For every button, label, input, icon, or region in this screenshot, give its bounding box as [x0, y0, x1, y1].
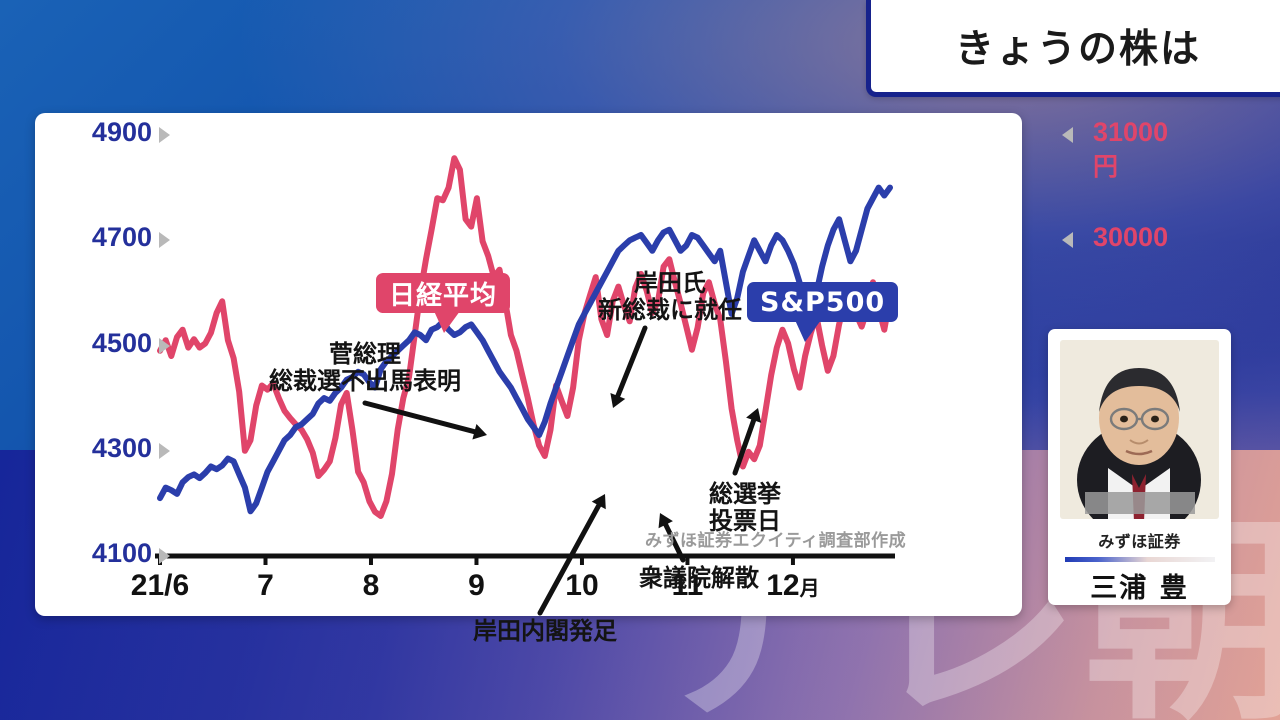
chart-card: 4900470045004300410031000円30000290002800…: [35, 113, 1022, 616]
page-title: きょうの株は: [955, 18, 1201, 74]
commentator-org: みずほ証券: [1098, 528, 1181, 552]
commentator-card: みずほ証券 三浦 豊: [1048, 329, 1231, 605]
background-lower-band-overlay: [0, 600, 1280, 720]
arrow-kishida-lead: [610, 328, 645, 408]
arrow-dissolution: [659, 513, 683, 560]
broadcast-screen: テレ朝 きょうの株は 4900470045004300410031000円300…: [0, 0, 1280, 720]
arrow-suga: [365, 403, 487, 439]
series-line-sp500: [160, 188, 890, 512]
commentator-photo: [1060, 340, 1219, 519]
stock-line-chart: [35, 113, 1022, 616]
commentator-name: 三浦 豊: [1090, 566, 1188, 605]
header-banner: きょうの株は: [866, 0, 1280, 97]
person-photo-icon: [1060, 340, 1219, 519]
commentator-divider: [1065, 557, 1215, 562]
